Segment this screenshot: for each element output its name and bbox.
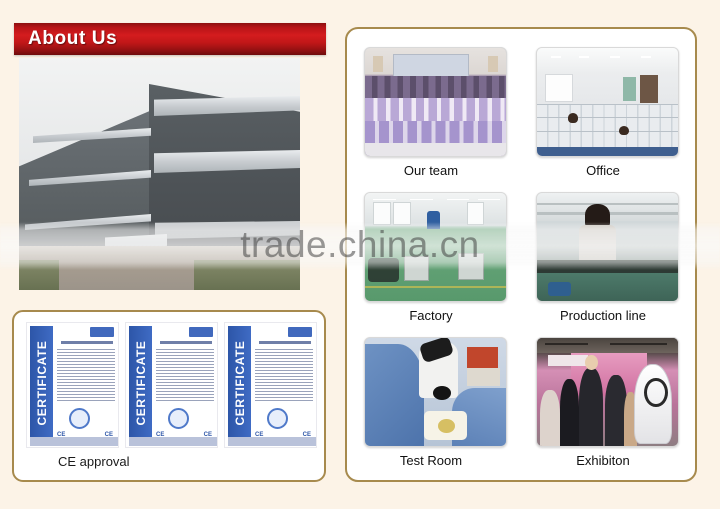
equipment-box <box>467 368 501 385</box>
certificate-heading-rule <box>160 341 212 344</box>
production-line-photo <box>537 193 678 301</box>
building-exterior-photo <box>19 58 300 290</box>
beam <box>537 203 678 205</box>
gallery-label: Factory <box>355 308 507 323</box>
certificate-heading-rule <box>259 341 311 344</box>
factory-photo <box>365 193 506 301</box>
projection-screen <box>393 54 468 78</box>
visitor <box>579 368 603 446</box>
gallery-label: Our team <box>355 163 507 178</box>
floor-marking <box>365 286 506 288</box>
machine <box>458 253 484 280</box>
certificate-logo-icon <box>288 327 312 337</box>
gallery-label: Office <box>527 163 679 178</box>
certificate-body-lines <box>57 349 115 403</box>
window <box>467 202 485 226</box>
floor <box>537 147 678 156</box>
visitor <box>560 379 580 446</box>
certificate-thumbnail[interactable]: CERTIFICATE CE CE <box>125 322 218 448</box>
gallery-item-office[interactable]: Office <box>527 47 689 192</box>
lab-gown <box>364 344 424 446</box>
photo-vegetation <box>19 260 59 290</box>
microscope-lens <box>433 386 451 400</box>
about-us-banner-title: About Us <box>14 28 117 50</box>
certificate-logo-icon <box>90 327 114 337</box>
about-us-banner: About Us <box>14 23 326 55</box>
wall-lamp <box>488 56 498 72</box>
certificate-body-lines <box>255 349 313 403</box>
machine <box>404 256 429 282</box>
display-unit <box>634 364 673 444</box>
assembly-bench <box>537 260 678 273</box>
worker <box>427 211 440 228</box>
certificates-caption: CE approval <box>58 454 130 469</box>
certificate-seal-icon <box>267 408 288 429</box>
our-team-photo <box>365 48 506 156</box>
certificate-spine-label: CERTIFICATE <box>134 340 148 425</box>
exhibition-photo <box>537 338 678 446</box>
window <box>393 202 411 226</box>
ceiling-truss <box>537 338 678 353</box>
photo-vegetation <box>194 260 300 290</box>
certificate-seal-icon <box>168 408 189 429</box>
certificate-spine-label: CERTIFICATE <box>35 340 49 425</box>
gallery-thumbnail[interactable] <box>364 192 507 302</box>
certificates-panel: CERTIFICATE CE CE CERTIFICATE <box>12 310 326 482</box>
certificate-body-lines <box>156 349 214 403</box>
visitor <box>540 390 560 446</box>
gallery-thumbnail[interactable] <box>364 337 507 447</box>
left-column: About Us CERTIFICATE <box>0 0 340 509</box>
certificate-heading-rule <box>61 341 113 344</box>
certificate-seal-icon <box>69 408 90 429</box>
gallery-thumbnail[interactable] <box>536 337 679 447</box>
ceiling <box>537 48 678 72</box>
booth-sign <box>548 355 587 366</box>
certificate-footer-bar <box>228 437 316 446</box>
gallery-label: Test Room <box>355 453 507 468</box>
certificate-thumbnail[interactable]: CERTIFICATE CE CE <box>224 322 317 448</box>
certificates-row: CERTIFICATE CE CE CERTIFICATE <box>26 322 318 448</box>
equipment-box <box>467 347 498 371</box>
certificate-spine-label: CERTIFICATE <box>233 340 247 425</box>
bin <box>548 282 571 296</box>
gallery-item-test-room[interactable]: Test Room <box>355 337 517 482</box>
gallery-thumbnail[interactable] <box>536 47 679 157</box>
gallery-label: Exhibiton <box>527 453 679 468</box>
gallery-item-our-team[interactable]: Our team <box>355 47 517 192</box>
test-room-photo <box>365 338 506 446</box>
gallery-item-production-line[interactable]: Production line <box>527 192 689 337</box>
equipment <box>368 258 399 282</box>
seated-person <box>568 113 578 123</box>
window <box>373 202 391 226</box>
office-photo <box>537 48 678 156</box>
certificate-footer-bar <box>129 437 217 446</box>
floor <box>365 143 506 156</box>
green-panel <box>623 77 636 101</box>
gallery-thumbnail[interactable] <box>536 192 679 302</box>
photo-gallery-grid: Our team <box>355 47 689 482</box>
window <box>545 74 572 102</box>
wall-lamp <box>373 56 383 72</box>
gallery-item-factory[interactable]: Factory <box>355 192 517 337</box>
gallery-item-exhibiton[interactable]: Exhibiton <box>527 337 689 482</box>
worker-head <box>585 204 610 228</box>
cabinet <box>640 75 658 103</box>
certificate-spine: CERTIFICATE <box>228 326 251 439</box>
seated-person <box>619 126 629 136</box>
photo-gallery-panel: Our team <box>345 27 697 482</box>
certificate-logo-icon <box>189 327 213 337</box>
visitor-head <box>585 355 598 370</box>
certificate-footer-bar <box>30 437 118 446</box>
about-us-page: About Us CERTIFICATE <box>0 0 720 509</box>
certificate-thumbnail[interactable]: CERTIFICATE CE CE <box>26 322 119 448</box>
gallery-label: Production line <box>527 308 679 323</box>
gallery-thumbnail[interactable] <box>364 47 507 157</box>
certificate-spine: CERTIFICATE <box>129 326 152 439</box>
certificate-spine: CERTIFICATE <box>30 326 53 439</box>
